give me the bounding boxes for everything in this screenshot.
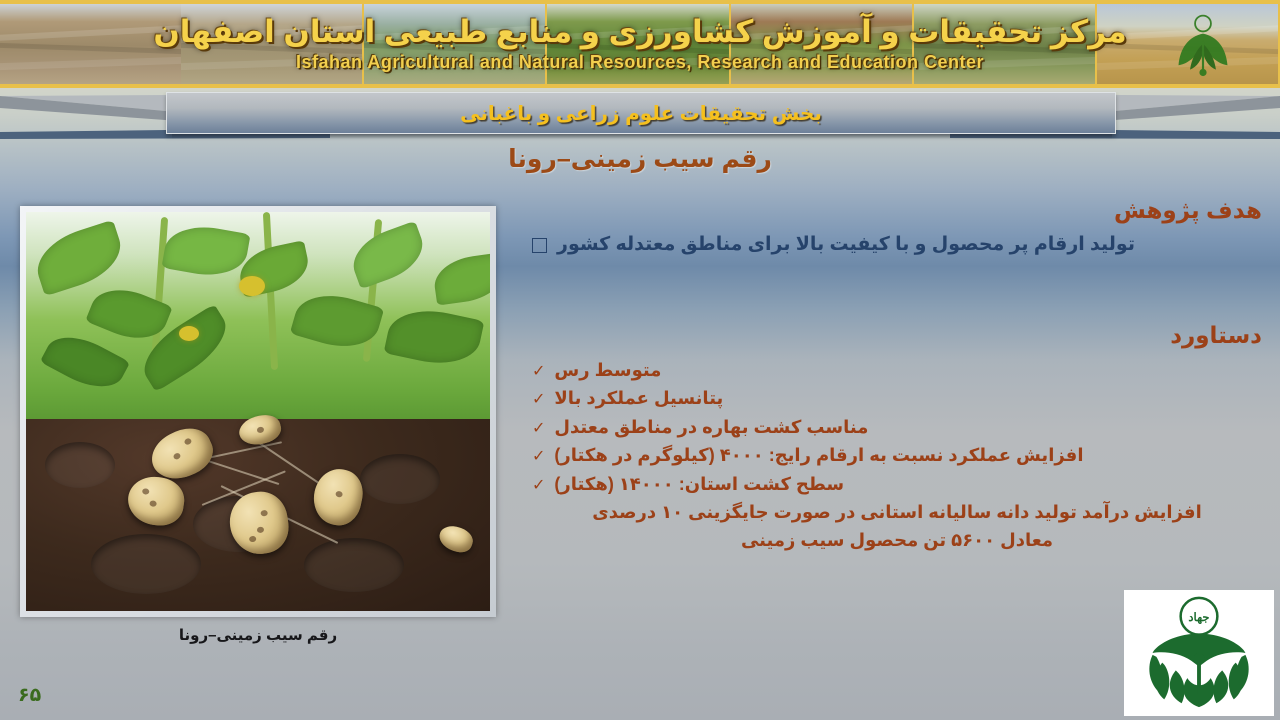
header-photo-strip (0, 4, 1280, 84)
achievement-heading: دستاورد (532, 321, 1262, 350)
check-icon: ✓ (532, 473, 545, 498)
achievement-item-label: پتانسیل عملکرد بالا (554, 384, 723, 412)
header-photo-6 (181, 4, 364, 84)
header-photo-3 (731, 4, 914, 84)
achievement-paragraph-line: معادل ۵۶۰۰ تن محصول سیب زمینی (532, 526, 1262, 554)
check-icon: ✓ (532, 359, 545, 384)
svg-text:جهاد: جهاد (1188, 611, 1209, 625)
header-banner: مرکز تحقیقات و آموزش کشاورزی و منابع طبی… (0, 0, 1280, 88)
header-photo-4 (547, 4, 730, 84)
achievement-item: ✓ افزایش عملکرد نسبت به ارقام رایج: ۴۰۰۰… (532, 441, 1262, 469)
page-title: رقم سیب زمینی–رونا (0, 144, 1280, 174)
achievement-item-label: افزایش عملکرد نسبت به ارقام رایج: ۴۰۰۰ (… (554, 441, 1083, 469)
square-bullet-icon (532, 238, 547, 253)
achievement-item-label: متوسط رس (554, 356, 661, 384)
jihad-keshavarzi-logo: جهاد (1124, 590, 1274, 716)
header-photo-2 (914, 4, 1097, 84)
achievement-item: ✓ پتانسیل عملکرد بالا (532, 384, 1262, 412)
check-icon: ✓ (532, 387, 545, 412)
achievement-item: ✓ متوسط رس (532, 356, 1262, 384)
check-icon: ✓ (532, 416, 545, 441)
presentation-slide: مرکز تحقیقات و آموزش کشاورزی و منابع طبی… (0, 0, 1280, 720)
photo-caption: رقم سیب زمینی–رونا (20, 626, 496, 644)
check-icon: ✓ (532, 444, 545, 469)
research-goal-heading: هدف پژوهش (532, 196, 1262, 225)
potato-plant-with-tubers-photo (26, 212, 490, 611)
content-column: هدف پژوهش تولید ارقام پر محصول و با کیفی… (532, 196, 1262, 554)
achievement-item: ✓ سطح کشت استان: ۱۴۰۰۰ (هکتار) (532, 470, 1262, 498)
achievement-paragraph-line: افزایش درآمد تولید دانه سالیانه استانی د… (532, 498, 1262, 526)
header-photo-7 (0, 4, 181, 84)
header-photo-5 (364, 4, 547, 84)
achievement-item-label: مناسب کشت بهاره در مناطق معتدل (554, 413, 868, 441)
ribbon-title-text: بخش تحقیقات علوم زراعی و باغبانی (460, 101, 822, 126)
section-ribbon: بخش تحقیقات علوم زراعی و باغبانی (0, 92, 1280, 144)
achievement-item: ✓ مناسب کشت بهاره در مناطق معتدل (532, 413, 1262, 441)
goal-item-label: تولید ارقام پر محصول و با کیفیت بالا برا… (557, 231, 1135, 260)
potato-photo-frame (20, 206, 496, 617)
leaf-emblem-icon (1166, 12, 1240, 84)
page-number: ۶۵ (18, 684, 41, 707)
ribbon-title-box: بخش تحقیقات علوم زراعی و باغبانی (166, 92, 1116, 134)
achievement-item-label: سطح کشت استان: ۱۴۰۰۰ (هکتار) (554, 470, 844, 498)
goal-item: تولید ارقام پر محصول و با کیفیت بالا برا… (532, 231, 1262, 260)
